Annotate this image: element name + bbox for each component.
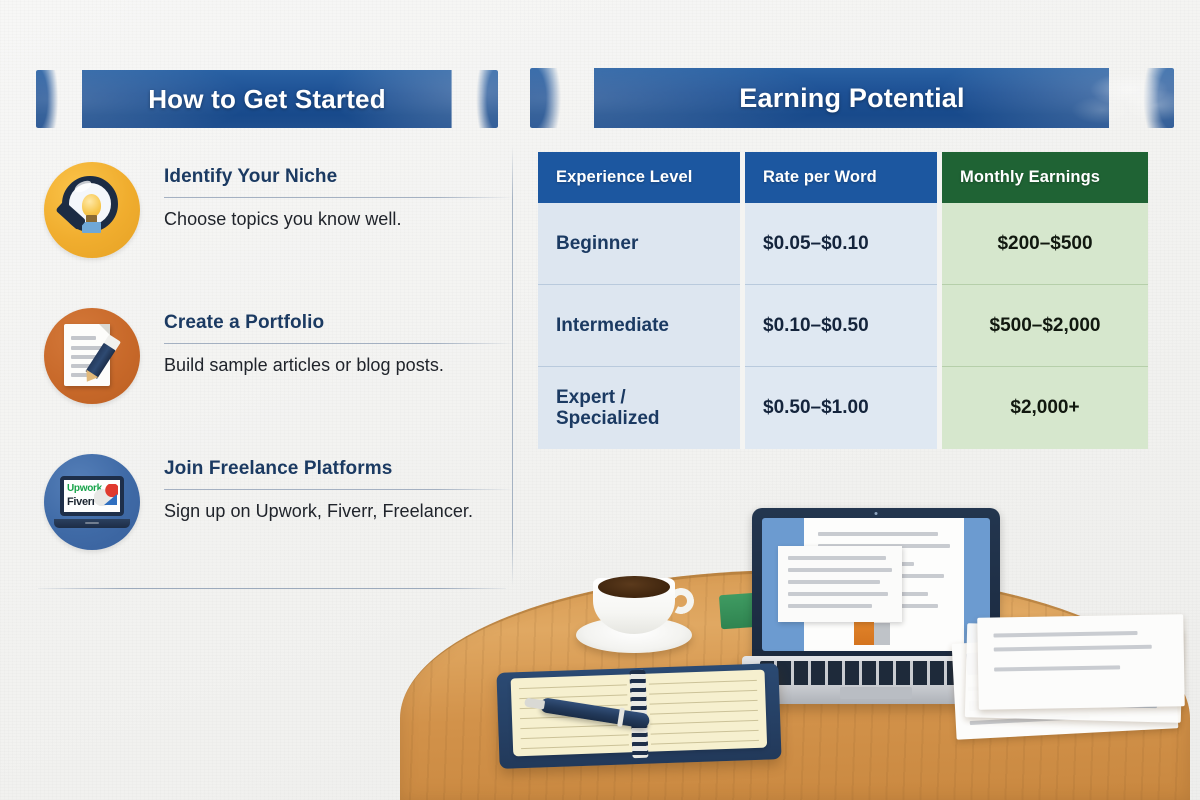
coffee-liquid (598, 576, 670, 598)
cell-rate-per-word: $0.10–$0.50 (745, 285, 937, 367)
right-panel-title: Earning Potential (739, 83, 964, 114)
step-title: Join Freelance Platforms (164, 458, 514, 480)
step-separator (164, 489, 514, 490)
cell-experience-level: Expert / Specialized (538, 367, 740, 449)
step-separator (164, 197, 514, 198)
cell-monthly-earnings: $200–$500 (942, 203, 1148, 285)
paper-stack (950, 612, 1200, 742)
spiral-notebook (496, 663, 781, 769)
cell-rate-per-word: $0.05–$0.10 (745, 203, 937, 285)
step-separator (164, 343, 514, 344)
magnifier-lightbulb-icon (44, 162, 140, 258)
freelancer-logo-icon (94, 484, 118, 506)
table-row: Beginner $0.05–$0.10 $200–$500 (538, 203, 1148, 285)
document-pencil-icon (44, 308, 140, 404)
right-panel-banner: Earning Potential (530, 68, 1174, 128)
screen-bar-chart-secondary (874, 623, 890, 645)
fiverr-logo-text: Fiverr (67, 496, 96, 508)
column-header-monthly-earnings: Monthly Earnings (942, 152, 1148, 203)
cell-rate-per-word: $0.50–$1.00 (745, 367, 937, 449)
cell-text-line-1: Expert / (556, 387, 722, 408)
cell-monthly-earnings: $500–$2,000 (942, 285, 1148, 367)
step-description: Choose topics you know well. (164, 209, 514, 230)
cell-monthly-earnings: $2,000+ (942, 367, 1148, 449)
left-panel-title: How to Get Started (148, 84, 386, 115)
cell-experience-level: Beginner (538, 203, 740, 285)
step-description: Build sample articles or blog posts. (164, 355, 514, 376)
trackpad (840, 687, 912, 699)
step-item-identify-niche: Identify Your Niche Choose topics you kn… (44, 160, 514, 306)
freelance-writer-desk-illustration (390, 500, 1200, 800)
step-item-create-portfolio: Create a Portfolio Build sample articles… (44, 306, 514, 452)
webcam-icon (875, 512, 878, 515)
left-panel-banner: How to Get Started (36, 70, 498, 128)
table-row: Expert / Specialized $0.50–$1.00 $2,000+ (538, 367, 1148, 449)
step-title: Identify Your Niche (164, 166, 514, 188)
infographic-canvas: How to Get Started Earning Potential Ide… (0, 0, 1200, 800)
table-row: Intermediate $0.10–$0.50 $500–$2,000 (538, 285, 1148, 367)
cell-experience-level: Intermediate (538, 285, 740, 367)
table-header-row: Experience Level Rate per Word Monthly E… (538, 152, 1148, 203)
column-header-rate-per-word: Rate per Word (745, 152, 937, 203)
notebook-page-right (641, 670, 768, 752)
laptop-platforms-icon: Upwork Fiverr (44, 454, 140, 550)
earning-potential-table: Experience Level Rate per Word Monthly E… (538, 152, 1148, 449)
paper-sheet (977, 614, 1185, 710)
step-title: Create a Portfolio (164, 312, 514, 334)
cell-text-line-2: Specialized (556, 408, 722, 429)
column-header-experience-level: Experience Level (538, 152, 740, 203)
screen-document-window (778, 546, 902, 622)
